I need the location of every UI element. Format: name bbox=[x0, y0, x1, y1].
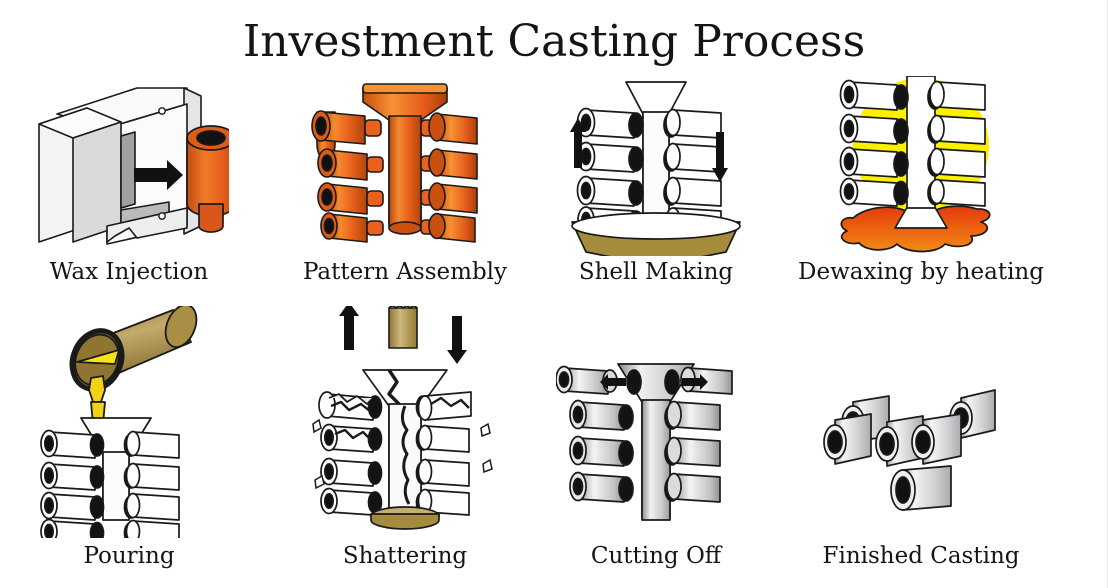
step-label-cutting-off: Cutting Off bbox=[591, 544, 721, 570]
step-label-wax-injection: Wax Injection bbox=[50, 260, 208, 286]
process-row-bottom: Pouring bbox=[0, 306, 1108, 588]
step-label-dewaxing-by-heating: Dewaxing by heating bbox=[798, 260, 1044, 286]
pouring-icon bbox=[29, 306, 229, 538]
step-cutting-off[interactable]: Cutting Off bbox=[541, 306, 771, 588]
step-wax-injection[interactable]: Wax Injection bbox=[14, 76, 244, 306]
cutting-off-icon bbox=[556, 306, 756, 538]
step-label-shattering: Shattering bbox=[343, 544, 467, 570]
page-title: Investment Casting Process bbox=[0, 16, 1108, 67]
step-label-shell-making: Shell Making bbox=[579, 260, 733, 286]
step-shattering[interactable]: Shattering bbox=[290, 306, 520, 588]
process-diagram-page: Investment Casting Process bbox=[0, 0, 1108, 588]
step-pattern-assembly[interactable]: Pattern Assembly bbox=[290, 76, 520, 306]
arrow-down-icon bbox=[447, 316, 467, 364]
shattering-icon bbox=[305, 306, 505, 538]
step-shell-making[interactable]: Shell Making bbox=[541, 76, 771, 306]
step-dewaxing-by-heating[interactable]: Dewaxing by heating bbox=[796, 76, 1046, 306]
dewaxing-icon bbox=[811, 76, 1031, 256]
step-label-pouring: Pouring bbox=[83, 544, 174, 570]
wax-injection-icon bbox=[29, 76, 229, 256]
process-row-top: Wax Injection bbox=[0, 76, 1108, 306]
step-label-finished-casting: Finished Casting bbox=[823, 544, 1020, 570]
shell-making-icon bbox=[556, 76, 756, 256]
finished-casting-icon bbox=[811, 306, 1031, 538]
arrow-up-icon bbox=[339, 306, 359, 350]
step-finished-casting[interactable]: Finished Casting bbox=[796, 306, 1046, 588]
pattern-assembly-icon bbox=[305, 76, 505, 256]
vibration-tool-icon bbox=[389, 306, 417, 348]
step-pouring[interactable]: Pouring bbox=[14, 306, 244, 588]
step-label-pattern-assembly: Pattern Assembly bbox=[303, 260, 507, 286]
